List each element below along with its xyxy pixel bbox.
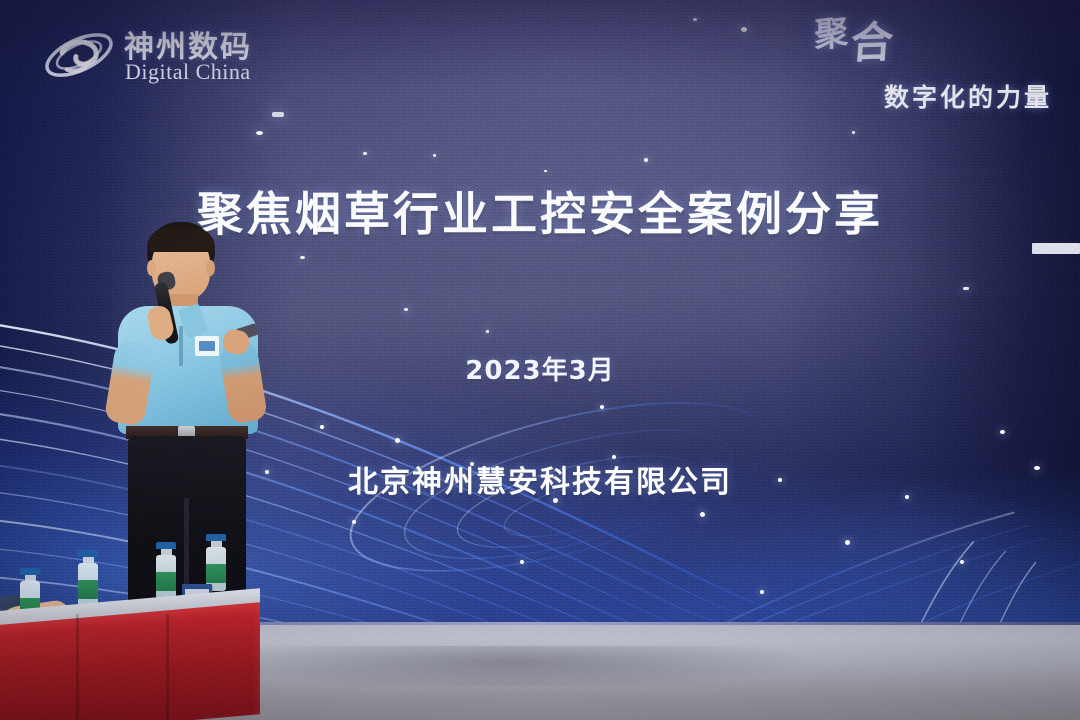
screen-edge-light-bar (1032, 243, 1080, 254)
water-bottle (156, 542, 176, 599)
light-particle (300, 256, 305, 259)
light-particle (693, 18, 697, 21)
event-logo: 聚合 数字化的力量 (802, 14, 1052, 114)
bottle-cap (78, 550, 98, 557)
galaxy-swirl-icon (40, 22, 118, 88)
calligraphy-char-1: 聚 (814, 20, 844, 52)
event-logo-tagline: 数字化的力量 (884, 78, 1052, 114)
digital-china-logo: 神州数码 Digital China (40, 20, 280, 96)
bottle-body (78, 563, 98, 607)
light-particle (433, 154, 436, 157)
light-particle (544, 170, 547, 172)
light-particle (256, 131, 263, 135)
speaker-ear-left (147, 260, 156, 276)
table-skirt-fold (76, 614, 79, 720)
floor-shadow (230, 646, 930, 686)
conference-stage-photo: 聚焦烟草行业工控安全案例分享 2023年3月 北京神州慧安科技有限公司 神州数码… (0, 0, 1080, 720)
bottle-cap (206, 534, 226, 541)
speaker-hair-front (147, 228, 215, 252)
bottle-body (156, 555, 176, 599)
calligraphy-char-2: 合 (850, 26, 890, 63)
light-particle (272, 112, 284, 117)
light-particle (644, 158, 648, 162)
bottle-cap (20, 568, 40, 575)
table-skirt-fold (166, 614, 169, 720)
event-logo-calligraphy: 聚合 (814, 9, 934, 52)
bottle-label (156, 572, 176, 591)
water-bottle (78, 550, 98, 607)
speaker-chest-logo (195, 336, 219, 356)
speaker-shirt-placket (179, 326, 183, 366)
bottle-label (78, 580, 98, 599)
speaker-ear-right (206, 260, 215, 276)
bottle-label (206, 564, 226, 583)
water-bottle (206, 534, 226, 591)
digital-china-name-en: Digital China (125, 59, 251, 85)
bottle-cap (156, 542, 176, 549)
light-particle (852, 131, 855, 134)
light-particle (741, 27, 747, 32)
light-particle (363, 152, 367, 155)
foreground-table (0, 556, 260, 720)
